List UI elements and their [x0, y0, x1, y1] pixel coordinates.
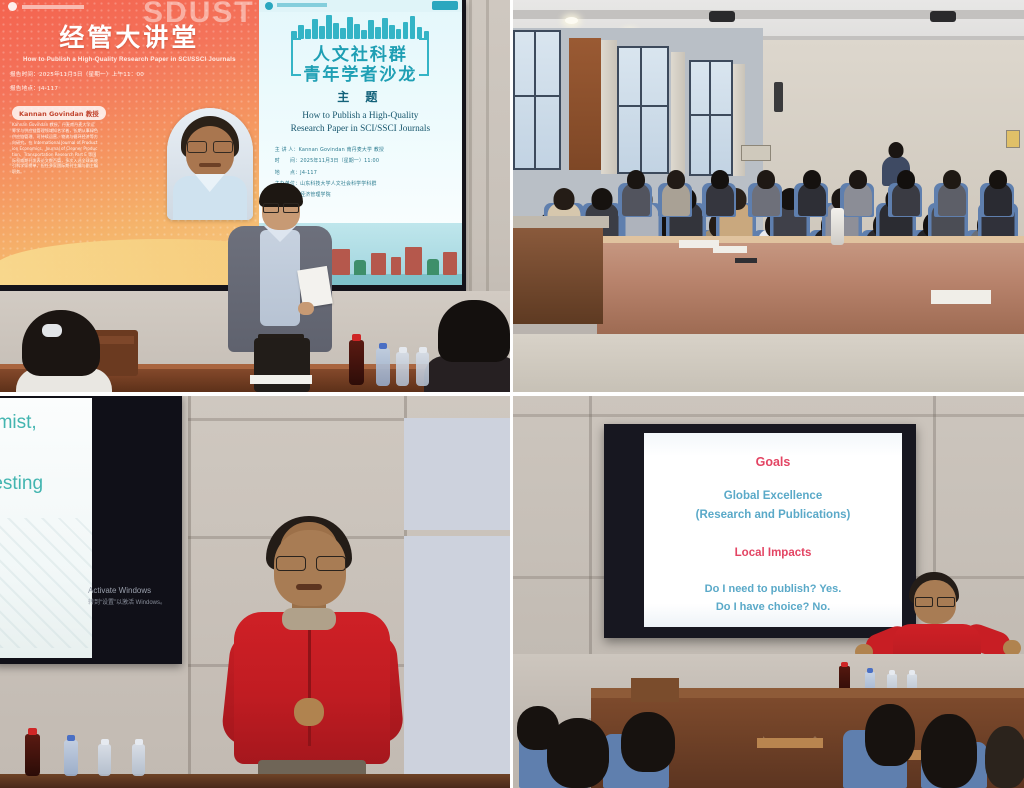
papers-on-desk — [931, 290, 991, 304]
slide-question-2: Do I have choice? No. — [644, 601, 902, 613]
attendee-head — [547, 718, 609, 788]
front-table — [0, 774, 510, 788]
slide-question-1: Do I need to publish? Yes. — [644, 583, 902, 595]
attendee-hair — [22, 310, 100, 376]
skyline-bar — [403, 22, 408, 39]
presenter-hand — [298, 302, 314, 315]
skyline-bar — [305, 29, 310, 39]
attendee-foreground-right — [438, 300, 510, 392]
poster-time-line: 报告时间：2025年11月3日（星期一）上午11：00 — [10, 70, 144, 78]
wall-seam — [188, 396, 191, 788]
attendee-hair — [438, 300, 510, 362]
audience-member — [661, 170, 691, 217]
audience-head — [592, 188, 613, 210]
skyline-bar — [389, 25, 394, 39]
poster-detail-row: 地 点：J4-117 — [275, 169, 452, 176]
audience-head — [711, 170, 729, 189]
skyline-bar — [382, 18, 387, 39]
wall-seam — [513, 414, 1024, 417]
ceiling-projector — [930, 11, 956, 22]
campus-building — [405, 247, 422, 275]
pen-on-desk — [735, 258, 757, 263]
skyline-bar — [319, 26, 324, 39]
attendee-head — [865, 704, 915, 766]
slide-text-fragment-2: resting — [0, 473, 43, 495]
cola-bottle — [349, 340, 364, 385]
window — [689, 60, 733, 176]
desk-edge-left — [513, 216, 609, 228]
wall-sign — [741, 145, 771, 161]
audience-head — [627, 170, 645, 189]
sweater-zipper — [308, 616, 311, 746]
hair-tie-icon — [42, 324, 62, 337]
topic-english-line2: Research Paper in SCI/SSCI Journals — [263, 123, 458, 136]
ceiling-projector — [709, 11, 735, 22]
water-bottle — [132, 744, 145, 776]
skyline-graphic — [291, 17, 429, 39]
water-bottle — [416, 352, 429, 386]
desk-side-left — [513, 228, 603, 324]
wooden-pillar — [569, 38, 601, 170]
water-bottle — [98, 744, 111, 776]
skyline-bar — [340, 28, 345, 39]
water-bottle — [396, 352, 409, 386]
audience-head — [943, 170, 961, 189]
windows-activation-watermark: Activate Windows 转到“设置”以激活 Windows。 — [88, 586, 166, 606]
poster-english-subtitle: How to Publish a High-Quality Research P… — [6, 56, 253, 63]
poster-venue-line: 报告地点：J4-117 — [10, 84, 58, 92]
papers-on-desk — [713, 246, 747, 253]
audience-member — [843, 170, 873, 217]
skyline-bar — [410, 16, 415, 39]
staff-head — [889, 142, 904, 158]
panel-top-right — [513, 0, 1024, 392]
desk-top-edge — [597, 236, 1024, 243]
salon-title-line2: 青年学者沙龙 — [259, 60, 462, 85]
campus-building — [332, 249, 350, 275]
desk-row-front — [597, 236, 1024, 336]
audience-member — [621, 170, 651, 217]
skyline-bar — [396, 29, 401, 39]
speaker-mouth — [296, 584, 322, 590]
topic-english: How to Publish a High-Quality Research P… — [263, 110, 458, 135]
university-wordmark — [277, 3, 327, 7]
seating-row — [513, 688, 1024, 788]
skyline-bar — [333, 23, 338, 39]
portrait-mouth — [199, 163, 221, 167]
audience-head — [554, 188, 575, 210]
watermark-subtitle: 转到“设置”以激活 Windows。 — [88, 597, 166, 606]
papers-on-table — [250, 375, 312, 384]
audience-member — [751, 170, 781, 217]
panel-bottom-left: omist, resting Activate Windows 转到“设置”以激… — [0, 396, 510, 788]
student-desk — [757, 738, 823, 748]
university-logo-icon — [265, 2, 273, 10]
audience-head — [757, 170, 775, 189]
audience-member — [937, 170, 967, 217]
campus-building — [391, 257, 401, 275]
eyeglasses-icon — [187, 141, 233, 151]
speaker-gesturing-hand — [294, 698, 324, 726]
presenter-shirt — [260, 230, 300, 326]
audience-member — [705, 170, 735, 217]
audience-head — [803, 170, 821, 189]
slide-point-1-line-2: (Research and Publications) — [644, 509, 902, 521]
skyline-bar — [298, 25, 303, 39]
poster-detail-row: 时 间：2025年11月3日（星期一）11:00 — [275, 157, 452, 164]
issue-number-tag — [432, 1, 458, 10]
eyeglasses-icon — [915, 597, 955, 605]
speaker-bio-text: Kannan Govindan 教授，丹麦南丹麦大学运筹学与供应链管理领域知名学… — [12, 122, 98, 175]
projected-slide: omist, resting — [0, 398, 92, 658]
skyline-bar — [312, 19, 317, 39]
slide-heading: Goals — [644, 455, 902, 469]
speaker-red-sweater — [234, 612, 390, 764]
cola-bottle — [25, 734, 40, 776]
window — [513, 30, 561, 170]
slide-heading-2: Local Impacts — [644, 547, 902, 559]
photo-collage: SDUST 经管大讲堂 How to Publish a High-Qualit… — [0, 0, 1024, 788]
eyeglasses-icon — [263, 203, 299, 211]
university-wordmark — [22, 5, 84, 9]
skyline-bar — [368, 20, 373, 39]
host-presenter — [228, 186, 332, 392]
thermos-flask — [831, 208, 844, 245]
skyline-bar — [326, 15, 331, 39]
projection-screen-frame: Goals Global Excellence (Research and Pu… — [604, 424, 916, 638]
ceiling-spotlight — [565, 17, 578, 24]
audience-member — [797, 170, 827, 217]
skyline-bar — [354, 24, 359, 39]
attendee-head — [921, 714, 977, 788]
attendee-head — [621, 712, 675, 772]
campus-building — [354, 260, 366, 275]
watermark-title: Activate Windows — [88, 586, 166, 595]
poster-detail-row: 主 讲 人：Kannan Govindan 南丹麦大学 教授 — [275, 146, 452, 153]
eyeglasses-icon — [276, 556, 346, 569]
skyline-bar — [375, 27, 380, 39]
window — [617, 46, 669, 174]
attendee-foreground-left — [22, 310, 100, 392]
attendee-head — [985, 726, 1024, 788]
audience-head — [989, 170, 1007, 189]
topic-english-line1: How to Publish a High-Quality — [263, 110, 458, 123]
audience-member — [983, 170, 1013, 217]
poster-left-half: SDUST 经管大讲堂 How to Publish a High-Qualit… — [0, 0, 259, 285]
university-logo-icon — [8, 2, 17, 11]
slide-background-graphic — [0, 518, 92, 648]
skyline-bar — [361, 30, 366, 39]
campus-building — [427, 259, 439, 275]
projected-slide: Goals Global Excellence (Research and Pu… — [644, 433, 902, 627]
wall-notice — [1006, 130, 1020, 148]
wall-speaker — [774, 82, 783, 112]
campus-building — [443, 252, 457, 275]
audience-member — [891, 170, 921, 217]
light-wall-panel — [404, 536, 510, 788]
slide-text-fragment-1: omist, — [0, 412, 37, 434]
speaker-name-badge: Kannan Govindan 教授 — [12, 106, 106, 120]
floor — [513, 334, 1024, 392]
slide-point-1-line-1: Global Excellence — [644, 490, 902, 502]
light-wall-panel — [404, 418, 510, 530]
curtain — [601, 40, 617, 174]
audience-head — [897, 170, 915, 189]
panel-top-left: SDUST 经管大讲堂 How to Publish a High-Qualit… — [0, 0, 510, 392]
poster-series-title: 经管大讲堂 — [0, 18, 259, 54]
audience-head — [849, 170, 867, 189]
keynote-speaker — [228, 516, 396, 788]
panel-bottom-right: Goals Global Excellence (Research and Pu… — [513, 396, 1024, 788]
water-bottle — [376, 348, 390, 386]
audience-head — [667, 170, 685, 189]
topic-label: 主 题 — [259, 88, 462, 105]
skyline-bar — [347, 17, 352, 39]
curtain — [671, 52, 685, 174]
water-bottle — [64, 740, 78, 776]
campus-building — [371, 253, 386, 275]
speaker-inner-collar — [282, 608, 336, 630]
